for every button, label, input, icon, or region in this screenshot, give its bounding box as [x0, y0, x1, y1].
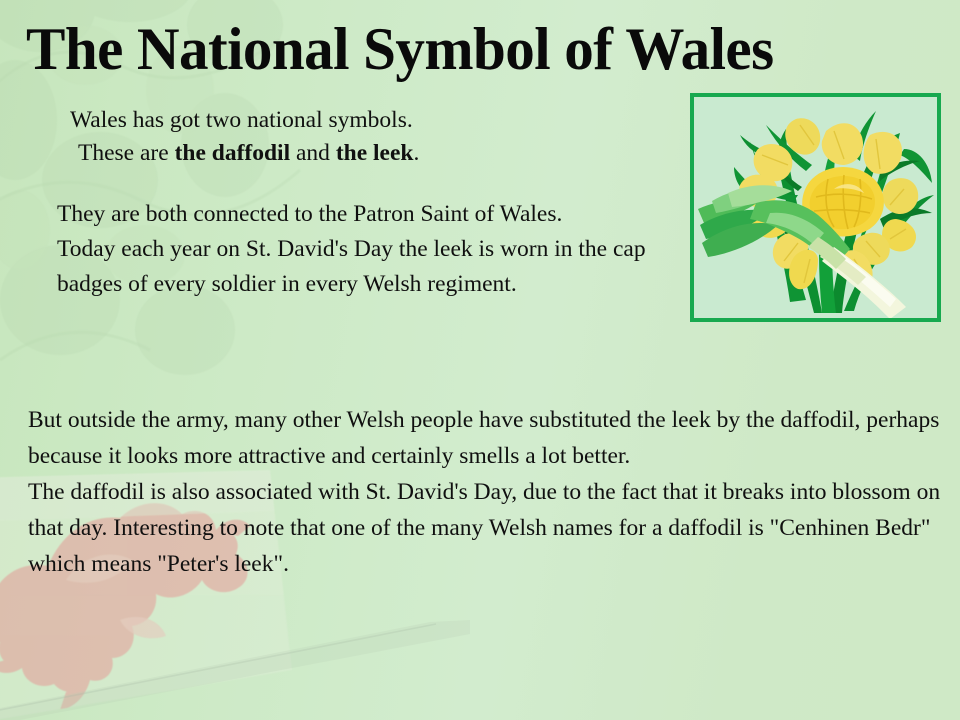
intro-bold-daffodil: the daffodil	[175, 140, 291, 166]
slide-canvas: The National Symbol of Wales Wales has g…	[0, 0, 960, 720]
intro-line-2: These are the daffodil and the leek.	[70, 137, 670, 170]
outside-paragraph-1: But outside the army, many other Welsh p…	[28, 402, 948, 474]
daffodil-leek-picture	[690, 93, 941, 322]
intro-text-block: Wales has got two national symbols. Thes…	[70, 104, 670, 170]
patron-paragraph-1: They are both connected to the Patron Sa…	[57, 197, 672, 232]
sheen-watermark	[0, 590, 470, 720]
daffodil-leek-illustration	[694, 97, 937, 318]
page-title: The National Symbol of Wales	[26, 14, 948, 84]
intro-line-1: Wales has got two national symbols.	[70, 104, 670, 137]
intro-line-2-prefix: These are	[78, 140, 175, 166]
patron-paragraph-2: Today each year on St. David's Day the l…	[57, 232, 672, 302]
intro-line-2-middle: and	[290, 140, 336, 166]
intro-line-2-suffix: .	[413, 140, 419, 166]
intro-bold-leek: the leek	[336, 140, 414, 166]
patron-text-block: They are both connected to the Patron Sa…	[57, 197, 672, 302]
outside-text-block: But outside the army, many other Welsh p…	[28, 402, 948, 582]
outside-paragraph-2: The daffodil is also associated with St.…	[28, 474, 948, 582]
